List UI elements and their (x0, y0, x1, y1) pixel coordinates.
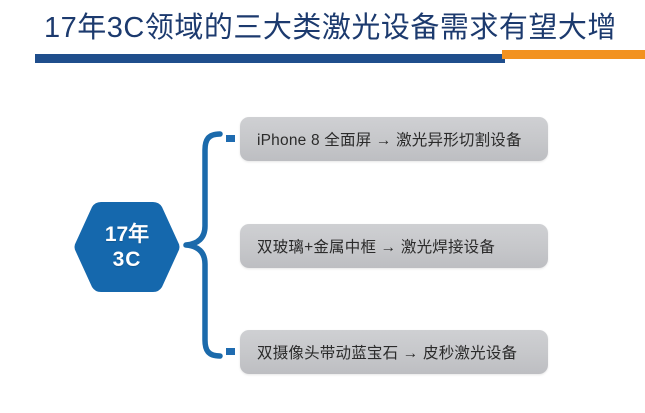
item-box-1[interactable]: iPhone 8 全面屏 → 激光异形切割设备 (240, 117, 548, 161)
curly-brace-connector (178, 128, 230, 368)
title-underline-orange (502, 50, 645, 59)
curly-brace-icon (178, 128, 230, 368)
item-box-3-label: 双摄像头带动蓝宝石 → 皮秒激光设备 (257, 341, 517, 363)
connector-nub-3 (226, 348, 235, 355)
page-title: 17年3C领域的三大类激光设备需求有望大增 (44, 10, 617, 46)
item-box-2-label: 双玻璃+金属中框 → 激光焊接设备 (257, 235, 495, 257)
hexagon-badge: 17年 3C (72, 197, 182, 297)
item-box-1-label: iPhone 8 全面屏 → 激光异形切割设备 (257, 128, 522, 150)
connector-nub-1 (226, 135, 235, 142)
item-box-2[interactable]: 双玻璃+金属中框 → 激光焊接设备 (240, 224, 548, 268)
hexagon-shape (72, 197, 182, 297)
slide-canvas: 17年3C领域的三大类激光设备需求有望大增 17年 3C iPhone 8 全面… (0, 0, 645, 413)
item-box-3[interactable]: 双摄像头带动蓝宝石 → 皮秒激光设备 (240, 330, 548, 374)
title-underline-blue (35, 54, 505, 63)
